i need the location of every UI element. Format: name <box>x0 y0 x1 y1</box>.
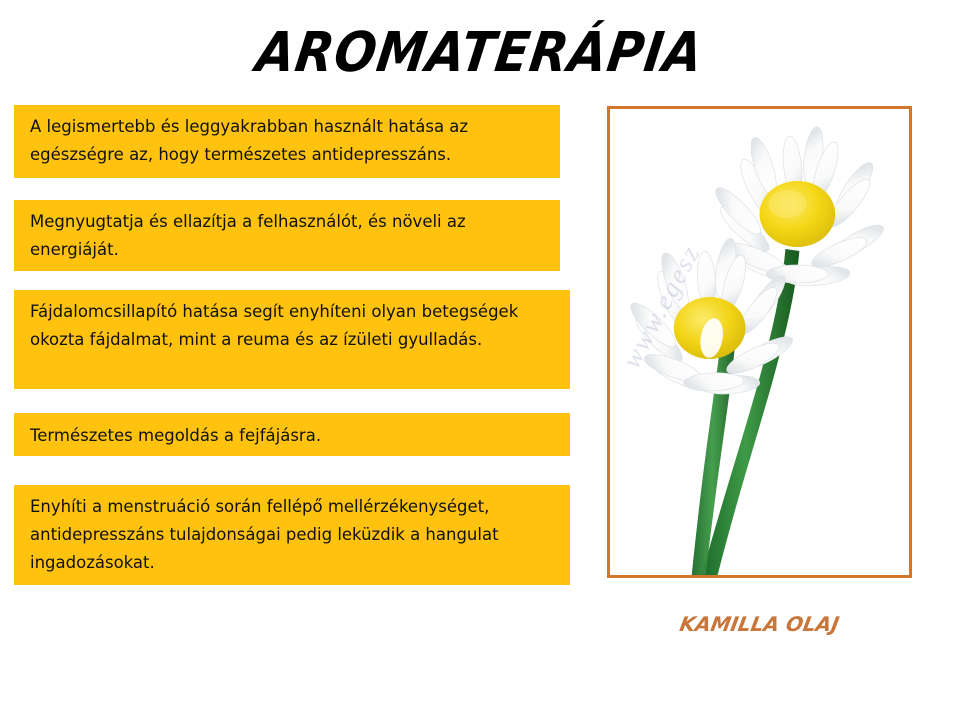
image-caption: KAMILLA OLAJ <box>605 612 914 636</box>
benefit-box-1: A legismertebb és leggyakrabban használt… <box>14 105 560 178</box>
slide-canvas: AROMATERÁPIA A legismertebb és leggyakra… <box>0 0 960 720</box>
benefit-text-2: Megnyugtatja és ellazítja a felhasználót… <box>30 208 550 264</box>
benefit-box-4: Természetes megoldás a fejfájásra. <box>14 413 570 456</box>
benefit-box-5: Enyhíti a menstruáció során fellépő mell… <box>14 485 570 585</box>
benefit-text-1: A legismertebb és leggyakrabban használt… <box>30 113 550 169</box>
chamomile-flower-image <box>610 109 909 575</box>
benefit-text-3: Fájdalomcsillapító hatása segít enyhíten… <box>30 298 560 354</box>
benefit-box-3: Fájdalomcsillapító hatása segít enyhíten… <box>14 290 570 389</box>
benefit-text-4: Természetes megoldás a fejfájásra. <box>30 422 560 450</box>
benefit-text-5: Enyhíti a menstruáció során fellépő mell… <box>30 493 560 577</box>
picture-frame: www.egesz <box>607 106 912 578</box>
flower-illustration <box>610 109 909 575</box>
benefit-box-2: Megnyugtatja és ellazítja a felhasználót… <box>14 200 560 271</box>
page-title: AROMATERÁPIA <box>0 25 960 80</box>
